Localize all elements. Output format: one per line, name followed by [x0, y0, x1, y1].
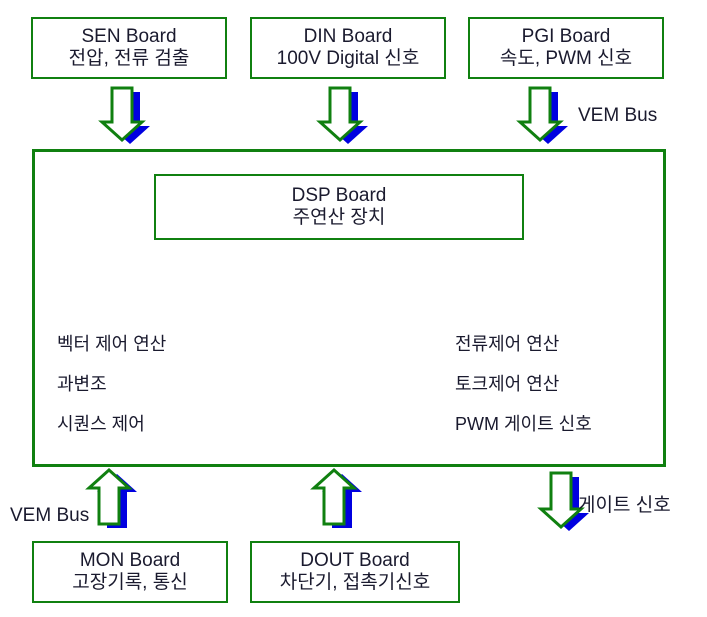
sen-board-title: SEN Board [81, 26, 176, 48]
arrow-din-to-main [316, 82, 386, 148]
dsp-board-title: DSP Board [292, 185, 387, 207]
pgi-board-title: PGI Board [522, 26, 611, 48]
mon-board-box[interactable]: MON Board 고장기록, 통신 [32, 541, 228, 603]
vem-bus-top-label: VEM Bus [578, 105, 657, 127]
dout-board-subtitle: 차단기, 접촉기신호 [280, 572, 430, 594]
function-item: 전류제어 연산 [455, 335, 592, 353]
arrow-pgi-to-main [516, 82, 586, 148]
arrow-mon-to-main [85, 466, 155, 536]
main-controller-box: DSP Board 주연산 장치 벡터 제어 연산 과변조 시퀀스 제어 전류제… [32, 149, 666, 467]
dout-board-title: DOUT Board [300, 550, 409, 572]
mon-board-subtitle: 고장기록, 통신 [72, 572, 187, 594]
din-board-title: DIN Board [304, 26, 393, 48]
arrow-sen-to-main [98, 82, 168, 148]
dsp-board-subtitle: 주연산 장치 [293, 207, 386, 229]
dsp-board-box[interactable]: DSP Board 주연산 장치 [154, 174, 524, 240]
sen-board-subtitle: 전압, 전류 검출 [69, 48, 190, 70]
function-item: 과변조 [57, 375, 166, 393]
din-board-subtitle: 100V Digital 신호 [277, 48, 420, 70]
din-board-box[interactable]: DIN Board 100V Digital 신호 [250, 17, 446, 79]
vem-bus-bottom-label: VEM Bus [10, 505, 89, 527]
gate-signal-label: 게이트 신호 [578, 490, 671, 517]
functions-left-column: 벡터 제어 연산 과변조 시퀀스 제어 [57, 335, 166, 455]
functions-right-column: 전류제어 연산 토크제어 연산 PWM 게이트 신호 [455, 335, 592, 455]
function-item: 토크제어 연산 [455, 375, 592, 393]
dout-board-box[interactable]: DOUT Board 차단기, 접촉기신호 [250, 541, 460, 603]
function-item: 벡터 제어 연산 [57, 335, 166, 353]
block-diagram-canvas: SEN Board 전압, 전류 검출 DIN Board 100V Digit… [0, 0, 707, 617]
pgi-board-box[interactable]: PGI Board 속도, PWM 신호 [468, 17, 664, 79]
mon-board-title: MON Board [80, 550, 180, 572]
function-item: 시퀀스 제어 [57, 415, 166, 433]
arrow-dout-to-main [310, 466, 380, 536]
sen-board-box[interactable]: SEN Board 전압, 전류 검출 [31, 17, 227, 79]
pgi-board-subtitle: 속도, PWM 신호 [500, 48, 632, 70]
function-item: PWM 게이트 신호 [455, 415, 592, 433]
